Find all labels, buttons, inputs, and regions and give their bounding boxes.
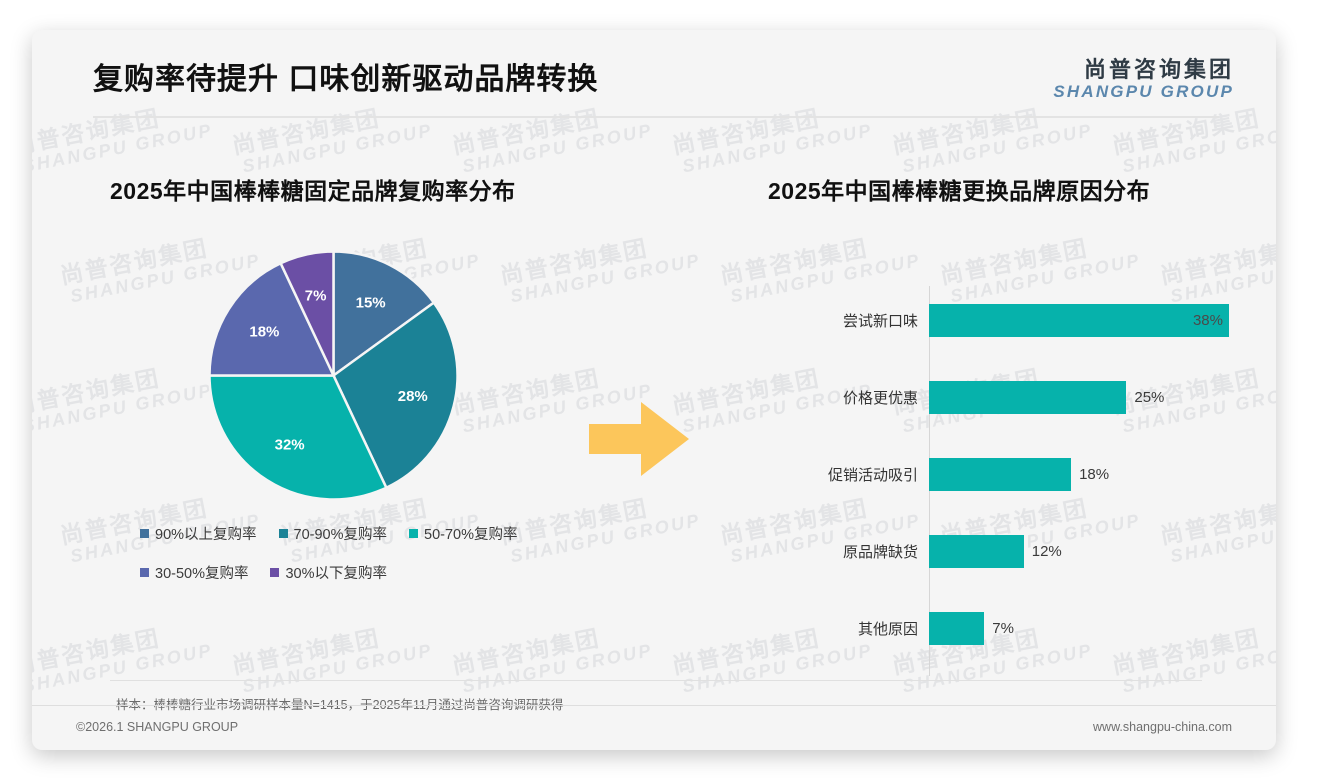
brand-logo-en: SHANGPU GROUP: [1053, 83, 1234, 101]
header-divider: [93, 116, 1219, 118]
legend-swatch-icon: [279, 529, 288, 538]
legend-item[interactable]: 90%以上复购率: [140, 523, 257, 544]
bar-category-label: 原品牌缺货: [768, 541, 929, 562]
legend-swatch-icon: [140, 568, 149, 577]
slide-footer: ©2026.1 SHANGPU GROUP www.shangpu-china.…: [32, 705, 1276, 750]
bar-chart-title: 2025年中国棒棒糖更换品牌原因分布: [768, 172, 1150, 206]
bar-category-label: 尝试新口味: [768, 310, 929, 331]
bar-track: 25%: [929, 377, 1198, 417]
bar-row: 原品牌缺货12%: [768, 531, 1198, 571]
pie-slice-label: 32%: [275, 437, 305, 454]
bar-category-label: 促销活动吸引: [768, 464, 929, 485]
pie-slice-label: 7%: [305, 288, 327, 305]
bar-track: 7%: [929, 608, 1198, 648]
bar-track: 18%: [929, 454, 1198, 494]
bar-row: 促销活动吸引18%: [768, 454, 1198, 494]
bar-value-label: 7%: [992, 620, 1014, 637]
bar-fill[interactable]: [929, 458, 1071, 491]
bar-track: 38%: [929, 300, 1229, 340]
bar-fill[interactable]: [929, 304, 1229, 337]
arrow-right-icon-svg: [589, 398, 689, 480]
legend-item[interactable]: 30-50%复购率: [140, 562, 248, 583]
pie-chart-svg: 15%28%32%18%7%: [206, 248, 461, 503]
legend-item[interactable]: 30%以下复购率: [270, 562, 387, 583]
legend-item-label: 90%以上复购率: [155, 523, 257, 544]
legend-row: 90%以上复购率70-90%复购率50-70%复购率: [140, 523, 610, 544]
legend-row: 30-50%复购率30%以下复购率: [140, 562, 610, 583]
bar-fill[interactable]: [929, 535, 1024, 568]
slide-body: 2025年中国棒棒糖固定品牌复购率分布 15%28%32%18%7% 90%以上…: [32, 118, 1276, 670]
legend-item-label: 70-90%复购率: [294, 523, 387, 544]
pie-chart-legend: 90%以上复购率70-90%复购率50-70%复购率 30-50%复购率30%以…: [140, 523, 610, 601]
legend-swatch-icon: [270, 568, 279, 577]
footer-website: www.shangpu-china.com: [1093, 720, 1232, 734]
pie-slice-label: 15%: [356, 295, 386, 312]
bar-value-label: 38%: [1193, 312, 1223, 329]
bar-track: 12%: [929, 531, 1198, 571]
legend-item-label: 50-70%复购率: [424, 523, 517, 544]
bar-row: 其他原因7%: [768, 608, 1198, 648]
pie-slice-label: 28%: [398, 388, 428, 405]
brand-logo-cn: 尚普咨询集团: [1053, 58, 1234, 81]
bar-chart: 尝试新口味38%价格更优惠25%促销活动吸引18%原品牌缺货12%其他原因7%: [768, 286, 1198, 686]
page-title: 复购率待提升 口味创新驱动品牌转换: [93, 54, 598, 98]
legend-item[interactable]: 70-90%复购率: [279, 523, 387, 544]
slide-header: 复购率待提升 口味创新驱动品牌转换 尚普咨询集团 SHANGPU GROUP: [32, 30, 1276, 116]
bar-fill[interactable]: [929, 612, 984, 645]
arrow-right-icon: [589, 398, 689, 480]
legend-swatch-icon: [140, 529, 149, 538]
bar-value-label: 18%: [1079, 466, 1109, 483]
bar-category-label: 其他原因: [768, 618, 929, 639]
source-divider: [110, 680, 1202, 681]
legend-item-label: 30%以下复购率: [285, 562, 387, 583]
bar-row: 尝试新口味38%: [768, 300, 1198, 340]
legend-item[interactable]: 50-70%复购率: [409, 523, 517, 544]
pie-chart: 15%28%32%18%7%: [206, 248, 461, 503]
slide-canvas: 尚普咨询集团SHANGPU GROUP尚普咨询集团SHANGPU GROUP尚普…: [32, 30, 1276, 750]
bar-fill[interactable]: [929, 381, 1126, 414]
bar-row: 价格更优惠25%: [768, 377, 1198, 417]
pie-slice-label: 18%: [249, 324, 279, 341]
legend-item-label: 30-50%复购率: [155, 562, 248, 583]
legend-swatch-icon: [409, 529, 418, 538]
footer-copyright: ©2026.1 SHANGPU GROUP: [76, 720, 238, 734]
bar-category-label: 价格更优惠: [768, 387, 929, 408]
pie-chart-title: 2025年中国棒棒糖固定品牌复购率分布: [110, 172, 516, 206]
bar-value-label: 25%: [1134, 389, 1164, 406]
brand-logo: 尚普咨询集团 SHANGPU GROUP: [1053, 58, 1234, 101]
bar-value-label: 12%: [1032, 543, 1062, 560]
